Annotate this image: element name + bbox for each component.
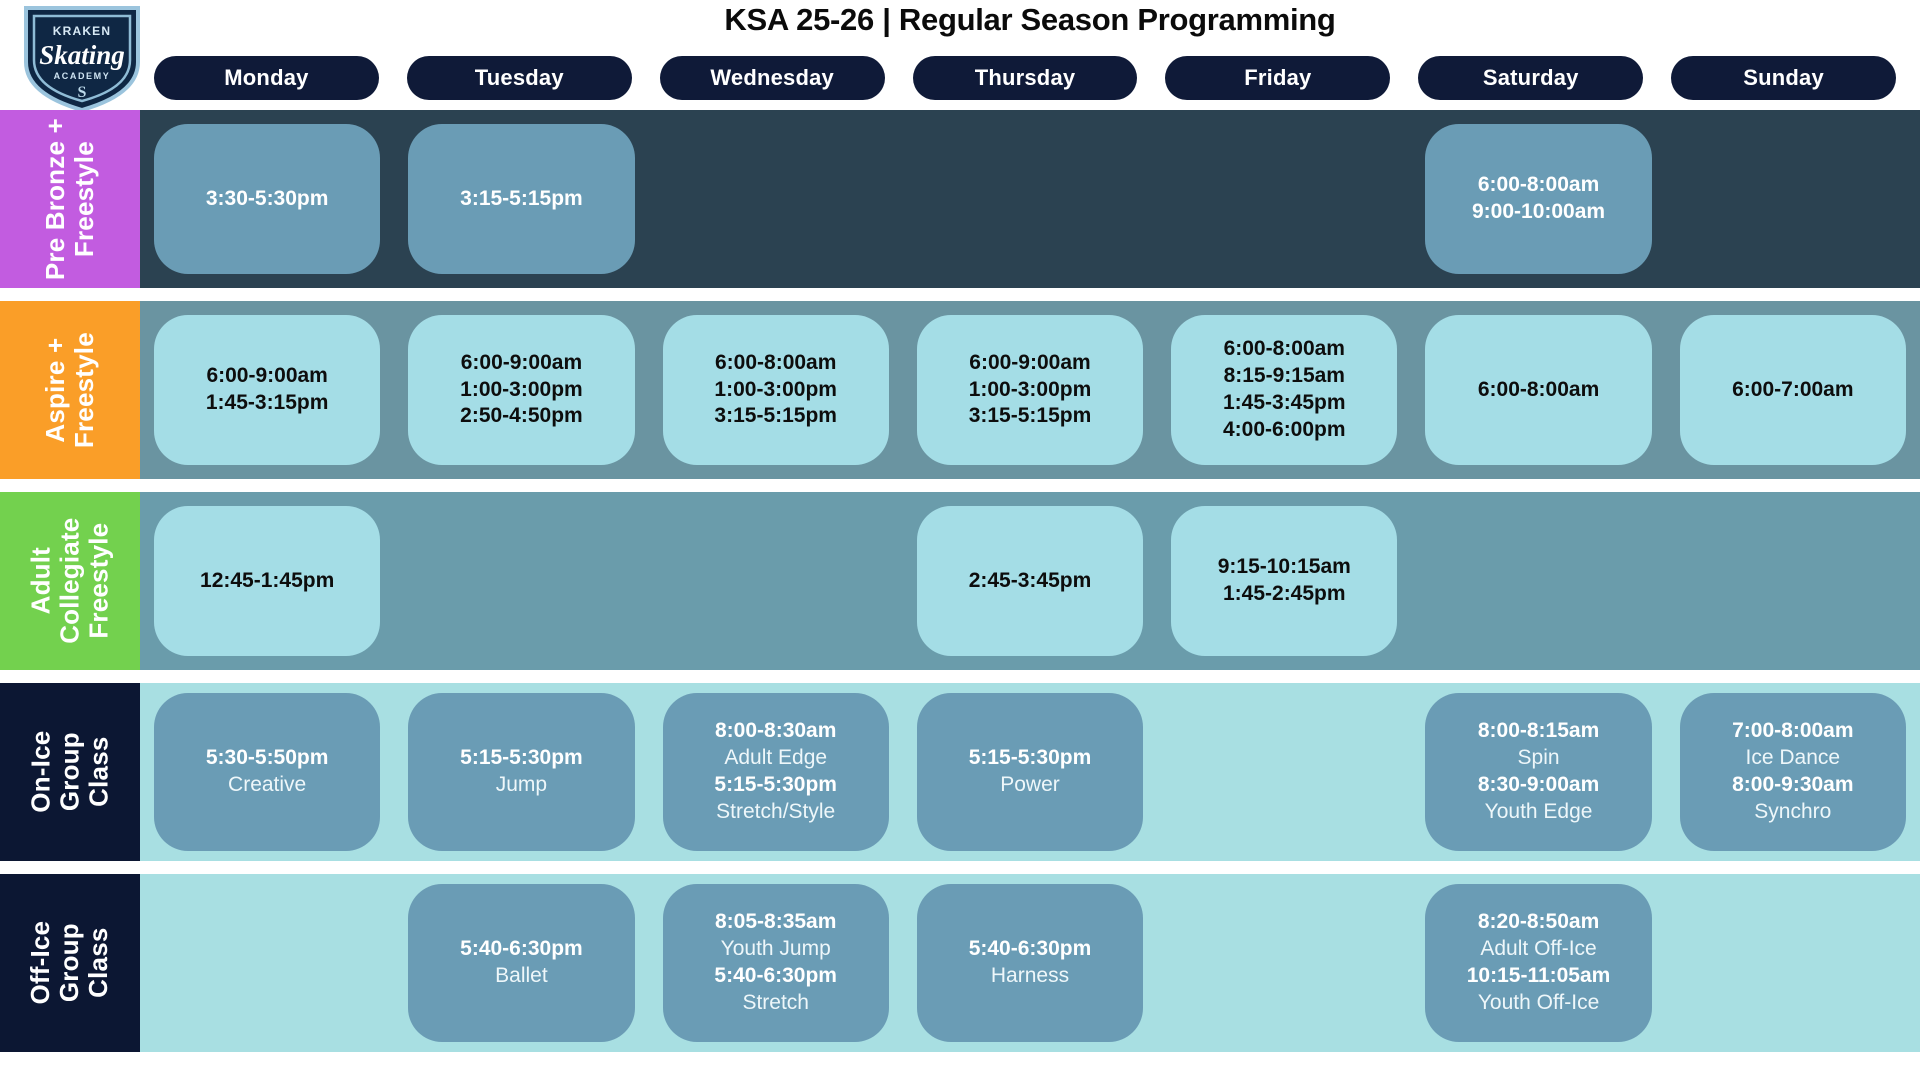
row-label-line: Aspire + xyxy=(41,332,70,448)
session-time: 6:00-8:00am xyxy=(1478,377,1599,404)
schedule-cell-empty xyxy=(1171,693,1397,851)
session-name: Power xyxy=(1000,772,1060,799)
schedule-row-aspire-freestyle: Aspire +Freestyle6:00-9:00am1:45-3:15pm6… xyxy=(0,301,1920,479)
session-name: Harness xyxy=(991,963,1069,990)
row-label-text: Pre Bronze +Freestyle xyxy=(41,118,99,280)
session-time: 5:15-5:30pm xyxy=(969,745,1092,772)
session-name: Synchro xyxy=(1754,799,1831,826)
schedule-cell[interactable]: 6:00-7:00am xyxy=(1680,315,1906,465)
schedule-cell-empty xyxy=(154,884,380,1042)
schedule-cell[interactable]: 2:45-3:45pm xyxy=(917,506,1143,656)
session-time: 3:15-5:15pm xyxy=(714,403,837,430)
session-time: 7:00-8:00am xyxy=(1732,718,1853,745)
session-name: Youth Jump xyxy=(721,936,831,963)
session-time: 6:00-9:00am xyxy=(969,350,1090,377)
day-header-saturday[interactable]: Saturday xyxy=(1418,56,1643,100)
session-time: 8:05-8:35am xyxy=(715,909,836,936)
row-label-off-ice-group-class: Off-IceGroupClass xyxy=(0,874,140,1052)
session-time: 1:00-3:00pm xyxy=(460,377,583,404)
schedule-cell[interactable]: 6:00-8:00am8:15-9:15am1:45-3:45pm4:00-6:… xyxy=(1171,315,1397,465)
session-time: 1:45-2:45pm xyxy=(1223,581,1346,608)
session-time: 1:45-3:45pm xyxy=(1223,390,1346,417)
session-time: 5:40-6:30pm xyxy=(714,963,837,990)
row-label-text: AdultCollegiateFreestyle xyxy=(26,518,113,644)
session-time: 3:30-5:30pm xyxy=(206,186,329,213)
svg-text:Skating: Skating xyxy=(39,40,125,70)
schedule-cell[interactable]: 6:00-9:00am1:45-3:15pm xyxy=(154,315,380,465)
row-body-aspire-freestyle: 6:00-9:00am1:45-3:15pm6:00-9:00am1:00-3:… xyxy=(140,301,1920,479)
row-label-line: Group xyxy=(55,921,84,1005)
session-name: Stretch xyxy=(742,990,809,1017)
schedule-cell-empty xyxy=(1171,124,1397,274)
schedule-cell[interactable]: 8:05-8:35amYouth Jump5:40-6:30pmStretch xyxy=(663,884,889,1042)
session-time: 5:40-6:30pm xyxy=(460,936,583,963)
schedule-cell-empty xyxy=(1680,506,1906,656)
schedule-cell[interactable]: 9:15-10:15am1:45-2:45pm xyxy=(1171,506,1397,656)
page-header: KRAKEN Skating ACADEMY S KSA 25-26 | Reg… xyxy=(0,0,1920,110)
session-time: 8:20-8:50am xyxy=(1478,909,1599,936)
row-label-line: Class xyxy=(85,921,114,1005)
schedule-cell-empty xyxy=(1171,884,1397,1042)
svg-text:ACADEMY: ACADEMY xyxy=(54,71,111,81)
schedule-row-pre-bronze-freestyle: Pre Bronze +Freestyle3:30-5:30pm3:15-5:1… xyxy=(0,110,1920,288)
session-name: Spin xyxy=(1518,745,1560,772)
schedule-cell[interactable]: 3:15-5:15pm xyxy=(408,124,634,274)
session-time: 6:00-7:00am xyxy=(1732,377,1853,404)
session-time: 1:45-3:15pm xyxy=(206,390,329,417)
schedule-cell[interactable]: 5:30-5:50pmCreative xyxy=(154,693,380,851)
session-name: Ice Dance xyxy=(1746,745,1841,772)
session-time: 5:30-5:50pm xyxy=(206,745,329,772)
day-header-monday[interactable]: Monday xyxy=(154,56,379,100)
row-label-text: On-IceGroupClass xyxy=(26,731,113,813)
schedule-cell[interactable]: 6:00-8:00am9:00-10:00am xyxy=(1425,124,1651,274)
schedule-cell-empty xyxy=(1425,506,1651,656)
schedule-cell-empty xyxy=(408,506,634,656)
row-label-on-ice-group-class: On-IceGroupClass xyxy=(0,683,140,861)
schedule-cell[interactable]: 6:00-8:00am xyxy=(1425,315,1651,465)
schedule-row-adult-collegiate-freestyle: AdultCollegiateFreestyle12:45-1:45pm2:45… xyxy=(0,492,1920,670)
day-header-sunday[interactable]: Sunday xyxy=(1671,56,1896,100)
row-body-on-ice-group-class: 5:30-5:50pmCreative5:15-5:30pmJump8:00-8… xyxy=(140,683,1920,861)
row-label-adult-collegiate-freestyle: AdultCollegiateFreestyle xyxy=(0,492,140,670)
schedule-row-on-ice-group-class: On-IceGroupClass5:30-5:50pmCreative5:15-… xyxy=(0,683,1920,861)
session-time: 9:15-10:15am xyxy=(1218,554,1351,581)
session-name: Youth Off-Ice xyxy=(1478,990,1599,1017)
row-label-line: Pre Bronze + xyxy=(41,118,70,280)
row-label-line: On-Ice xyxy=(26,731,55,813)
row-label-line: Group xyxy=(55,731,84,813)
schedule-cell[interactable]: 7:00-8:00amIce Dance8:00-9:30amSynchro xyxy=(1680,693,1906,851)
row-body-pre-bronze-freestyle: 3:30-5:30pm3:15-5:15pm6:00-8:00am9:00-10… xyxy=(140,110,1920,288)
row-label-aspire-freestyle: Aspire +Freestyle xyxy=(0,301,140,479)
schedule-cell[interactable]: 8:00-8:15amSpin8:30-9:00amYouth Edge xyxy=(1425,693,1651,851)
session-time: 8:00-8:30am xyxy=(715,718,836,745)
day-header-friday[interactable]: Friday xyxy=(1165,56,1390,100)
session-time: 6:00-9:00am xyxy=(206,363,327,390)
session-time: 9:00-10:00am xyxy=(1472,199,1605,226)
schedule-cell[interactable]: 6:00-9:00am1:00-3:00pm3:15-5:15pm xyxy=(917,315,1143,465)
session-time: 2:50-4:50pm xyxy=(460,403,583,430)
page-title: KSA 25-26 | Regular Season Programming xyxy=(140,2,1920,38)
session-time: 6:00-8:00am xyxy=(1224,336,1345,363)
schedule-page: KRAKEN Skating ACADEMY S KSA 25-26 | Reg… xyxy=(0,0,1920,1080)
session-time: 6:00-8:00am xyxy=(715,350,836,377)
session-name: Adult Edge xyxy=(724,745,827,772)
session-time: 6:00-9:00am xyxy=(461,350,582,377)
schedule-cell-empty xyxy=(663,124,889,274)
session-time: 8:00-9:30am xyxy=(1732,772,1853,799)
schedule-cell-empty xyxy=(663,506,889,656)
row-body-adult-collegiate-freestyle: 12:45-1:45pm2:45-3:45pm9:15-10:15am1:45-… xyxy=(140,492,1920,670)
session-time: 8:30-9:00am xyxy=(1478,772,1599,799)
schedule-cell[interactable]: 3:30-5:30pm xyxy=(154,124,380,274)
kraken-skating-academy-logo: KRAKEN Skating ACADEMY S xyxy=(18,2,146,114)
schedule-cell-empty xyxy=(1680,124,1906,274)
row-label-line: Freestyle xyxy=(70,332,99,448)
session-name: Ballet xyxy=(495,963,548,990)
row-label-line: Freestyle xyxy=(70,118,99,280)
svg-text:KRAKEN: KRAKEN xyxy=(53,24,112,38)
session-time: 4:00-6:00pm xyxy=(1223,417,1346,444)
session-time: 2:45-3:45pm xyxy=(969,568,1092,595)
row-body-off-ice-group-class: 5:40-6:30pmBallet8:05-8:35amYouth Jump5:… xyxy=(140,874,1920,1052)
session-name: Adult Off-Ice xyxy=(1480,936,1596,963)
session-time: 12:45-1:45pm xyxy=(200,568,334,595)
row-label-text: Off-IceGroupClass xyxy=(26,921,113,1005)
day-header-wednesday[interactable]: Wednesday xyxy=(660,56,885,100)
row-label-text: Aspire +Freestyle xyxy=(41,332,99,448)
schedule-cell[interactable]: 5:15-5:30pmPower xyxy=(917,693,1143,851)
session-time: 1:00-3:00pm xyxy=(969,377,1092,404)
day-header-strip: Monday Tuesday Wednesday Thursday Friday… xyxy=(140,56,1910,100)
session-time: 3:15-5:15pm xyxy=(460,186,583,213)
session-time: 8:00-8:15am xyxy=(1478,718,1599,745)
session-time: 1:00-3:00pm xyxy=(714,377,837,404)
row-label-line: Freestyle xyxy=(85,518,114,644)
session-name: Youth Edge xyxy=(1485,799,1593,826)
session-time: 5:40-6:30pm xyxy=(969,936,1092,963)
day-header-thursday[interactable]: Thursday xyxy=(913,56,1138,100)
session-time: 5:15-5:30pm xyxy=(714,772,837,799)
session-name: Stretch/Style xyxy=(716,799,835,826)
schedule-cell[interactable]: 5:15-5:30pmJump xyxy=(408,693,634,851)
session-time: 8:15-9:15am xyxy=(1224,363,1345,390)
schedule-cell[interactable]: 12:45-1:45pm xyxy=(154,506,380,656)
schedule-cell[interactable]: 6:00-9:00am1:00-3:00pm2:50-4:50pm xyxy=(408,315,634,465)
day-header-tuesday[interactable]: Tuesday xyxy=(407,56,632,100)
schedule-cell-empty xyxy=(1680,884,1906,1042)
schedule-row-off-ice-group-class: Off-IceGroupClass5:40-6:30pmBallet8:05-8… xyxy=(0,874,1920,1052)
row-label-pre-bronze-freestyle: Pre Bronze +Freestyle xyxy=(0,110,140,288)
schedule-cell[interactable]: 8:20-8:50amAdult Off-Ice10:15-11:05amYou… xyxy=(1425,884,1651,1042)
session-time: 6:00-8:00am xyxy=(1478,172,1599,199)
schedule-cell-empty xyxy=(917,124,1143,274)
session-time: 10:15-11:05am xyxy=(1467,963,1611,990)
session-name: Jump xyxy=(496,772,547,799)
schedule-rows: Pre Bronze +Freestyle3:30-5:30pm3:15-5:1… xyxy=(0,110,1920,1065)
row-label-line: Adult xyxy=(26,518,55,644)
session-time: 3:15-5:15pm xyxy=(969,403,1092,430)
row-label-line: Class xyxy=(85,731,114,813)
schedule-cell[interactable]: 5:40-6:30pmBallet xyxy=(408,884,634,1042)
svg-text:S: S xyxy=(78,84,87,101)
row-label-line: Off-Ice xyxy=(26,921,55,1005)
schedule-cell[interactable]: 5:40-6:30pmHarness xyxy=(917,884,1143,1042)
schedule-cell[interactable]: 6:00-8:00am1:00-3:00pm3:15-5:15pm xyxy=(663,315,889,465)
row-label-line: Collegiate xyxy=(55,518,84,644)
session-name: Creative xyxy=(228,772,306,799)
schedule-cell[interactable]: 8:00-8:30amAdult Edge5:15-5:30pmStretch/… xyxy=(663,693,889,851)
session-time: 5:15-5:30pm xyxy=(460,745,583,772)
